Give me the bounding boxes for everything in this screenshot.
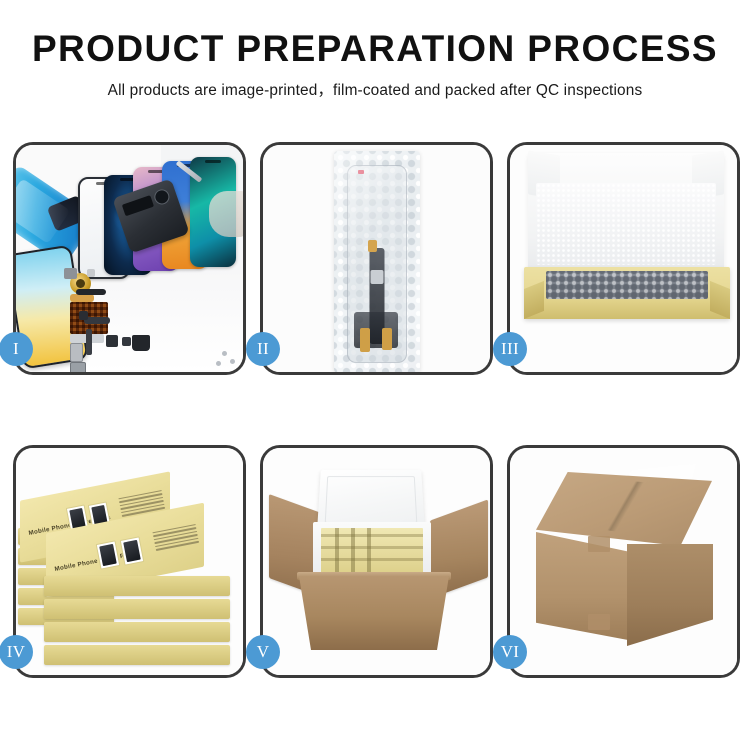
step-2-photo	[263, 145, 490, 372]
loudspeaker-part	[132, 335, 150, 351]
carton-body	[299, 576, 449, 650]
screw	[222, 351, 227, 356]
volume-flex-strip	[86, 329, 92, 355]
process-step-6: VI	[507, 445, 740, 678]
step-5-photo	[263, 448, 490, 675]
white-foam-pad	[536, 183, 716, 265]
step-1-photo	[16, 145, 243, 372]
step-badge-2: II	[246, 332, 280, 366]
small-module-part	[106, 335, 118, 347]
flex-cable-gold	[70, 294, 94, 302]
stacked-box-edge	[44, 622, 230, 642]
carton-tape-patch-upper	[588, 536, 610, 552]
screw	[216, 361, 221, 366]
grey-bubble-wrapped-items	[546, 271, 708, 299]
step-badge-6: VI	[493, 635, 527, 669]
step-badge-5: V	[246, 635, 280, 669]
box-column-divider	[335, 528, 339, 574]
step-6-photo	[510, 448, 737, 675]
tray-front-face	[524, 297, 730, 319]
notch	[205, 160, 221, 163]
plastic-sheen	[334, 151, 420, 372]
process-step-1: I	[13, 142, 246, 375]
stacked-box-edge	[44, 576, 230, 596]
page-title: PRODUCT PREPARATION PROCESS	[0, 30, 750, 69]
speaker-mesh-part	[76, 289, 106, 295]
step-3-photo	[510, 145, 737, 372]
step-badge-4: IV	[0, 635, 33, 669]
carton-tape-patch-lower	[588, 614, 610, 630]
yellow-boxes-inside	[321, 528, 423, 574]
step-badge-1: I	[0, 332, 33, 366]
process-step-5: V	[260, 445, 493, 678]
battery-part	[70, 362, 86, 372]
step-badge-3: III	[493, 332, 527, 366]
header: PRODUCT PREPARATION PROCESS All products…	[0, 30, 750, 100]
box-column-divider	[351, 528, 355, 574]
process-step-3: III	[507, 142, 740, 375]
phone-graphic-screen	[123, 540, 141, 562]
retail-box-stack: Mobile Phone Spare Parts	[18, 464, 243, 674]
spare-parts-cluster	[70, 273, 243, 372]
page-subtitle: All products are image-printed，film-coat…	[0, 78, 750, 100]
infographic-page: PRODUCT PREPARATION PROCESS All products…	[0, 0, 750, 750]
phone-graphic-screen	[99, 544, 117, 566]
connector-part	[122, 337, 131, 346]
screw	[230, 359, 235, 364]
process-step-grid: I II	[13, 142, 745, 678]
stacked-box-edge	[44, 645, 230, 665]
technician-hand	[209, 191, 243, 237]
process-step-4: Mobile Phone Spare Parts	[13, 445, 246, 678]
step-4-photo: Mobile Phone Spare Parts	[16, 448, 243, 675]
stacked-box-edge	[44, 599, 230, 619]
printed-box-front: Mobile Phone Spare Parts	[46, 518, 210, 584]
box-column-divider	[367, 528, 371, 574]
sim-tray-part	[70, 343, 83, 362]
process-step-2: II	[260, 142, 493, 375]
bubble-wrap-bag	[334, 151, 420, 372]
power-button-flex	[84, 317, 110, 324]
